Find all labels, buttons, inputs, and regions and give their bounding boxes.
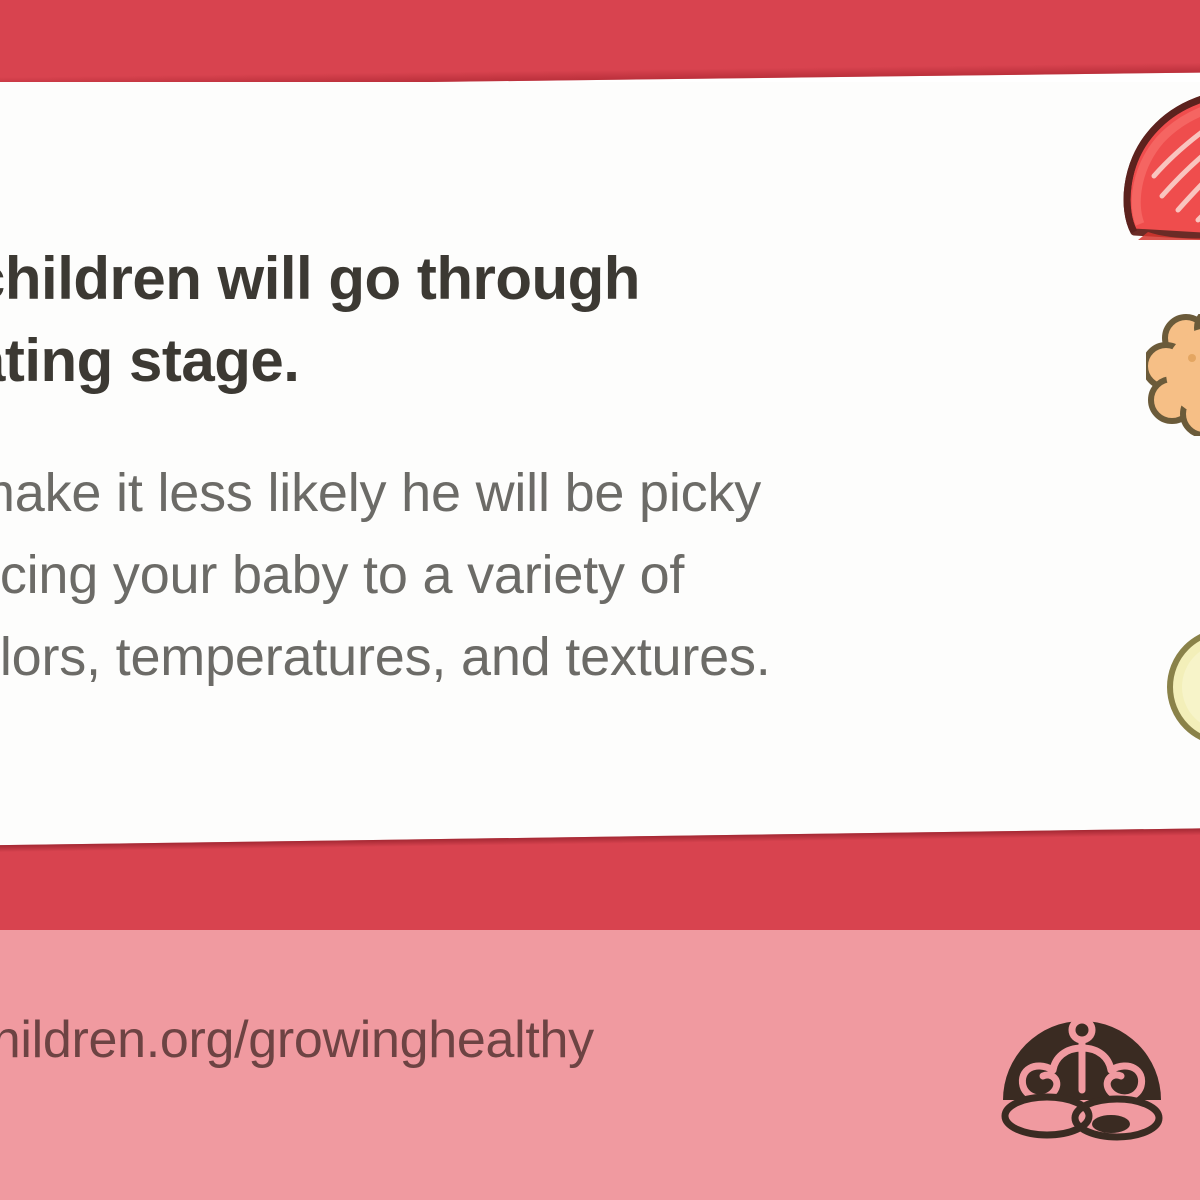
aap-logo [993, 978, 1171, 1146]
banana-slice-icon [1162, 624, 1200, 750]
body-line-2: ucing your baby to a variety of [0, 534, 1200, 616]
headline-line-2: ating stage. [0, 320, 982, 402]
body-copy: make it less likely he will be picky uci… [0, 452, 1200, 698]
strawberry-half-icon [1118, 92, 1200, 240]
footer-url[interactable]: children.org/growinghealthy [0, 1014, 594, 1066]
headline: children will go through ating stage. [0, 238, 982, 402]
cracker-icon [1146, 314, 1200, 436]
headline-line-1: children will go through [0, 238, 982, 320]
top-red-band [0, 0, 1200, 88]
infographic-card: children will go through ating stage. ma… [0, 0, 1200, 1200]
body-line-1: make it less likely he will be picky [0, 452, 1200, 534]
body-line-3: olors, temperatures, and textures. [0, 616, 1200, 698]
